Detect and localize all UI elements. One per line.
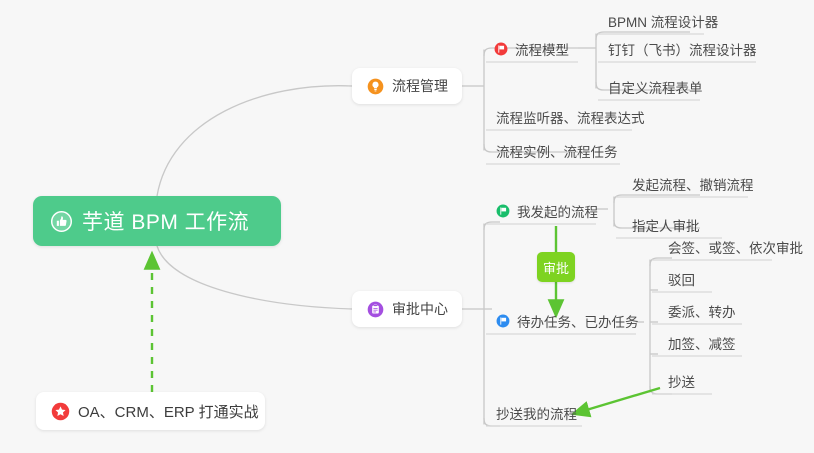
leaf-label: 抄送: [668, 371, 695, 391]
node-my-initiated[interactable]: 我发起的流程: [490, 198, 604, 224]
thumbs-up-icon: [50, 210, 73, 233]
node-label-my-initiated: 我发起的流程: [517, 201, 598, 221]
leaf-label: 指定人审批: [632, 215, 700, 235]
node-label-todo-done: 待办任务、已办任务: [517, 311, 639, 331]
leaf-bpmn-designer[interactable]: BPMN 流程设计器: [600, 8, 724, 34]
node-label-process-model: 流程模型: [515, 39, 569, 59]
star-icon: [51, 402, 70, 421]
node-label-integration: OA、CRM、ERP 打通实战: [78, 401, 259, 422]
annotation-tag-approve[interactable]: 审批: [537, 252, 575, 282]
leaf-label: 流程实例、流程任务: [496, 141, 618, 161]
leaf-process-listener[interactable]: 流程监听器、流程表达式: [488, 104, 651, 130]
leaf-start-revoke[interactable]: 发起流程、撤销流程: [624, 171, 760, 197]
node-process-model[interactable]: 流程模型: [488, 36, 575, 62]
leaf-label: 自定义流程表单: [608, 77, 703, 97]
branch-node-approval-center[interactable]: 审批中心: [352, 291, 462, 327]
leaf-label: 加签、减签: [668, 333, 736, 353]
leaf-label: 流程监听器、流程表达式: [496, 107, 645, 127]
leaf-label: BPMN 流程设计器: [608, 11, 718, 31]
lightbulb-icon: [367, 78, 384, 95]
branch-node-process-mgmt[interactable]: 流程管理: [352, 68, 462, 104]
flag-icon-red: [494, 42, 508, 56]
leaf-delegate-transfer[interactable]: 委派、转办: [660, 298, 742, 324]
root-node[interactable]: 芋道 BPM 工作流: [33, 196, 281, 246]
link-root-to-approval-center: [157, 246, 352, 309]
annotation-tag-label: 审批: [543, 258, 569, 277]
root-label: 芋道 BPM 工作流: [82, 206, 249, 236]
arrow-cc-to-cc-my-process: [573, 388, 660, 414]
leaf-cc-my-process[interactable]: 抄送我的流程: [488, 400, 583, 426]
flag-icon-green: [496, 204, 510, 218]
leaf-cc[interactable]: 抄送: [660, 368, 701, 394]
mindmap-canvas[interactable]: 芋道 BPM 工作流 流程管理 流程模型 BPMN 流程设计器 钉钉（飞书: [0, 0, 814, 453]
leaf-dingtalk-designer[interactable]: 钉钉（飞书）流程设计器: [600, 36, 763, 62]
leaf-add-remove-sign[interactable]: 加签、减签: [660, 330, 742, 356]
leaf-label: 委派、转办: [668, 301, 736, 321]
leaf-reject[interactable]: 驳回: [660, 266, 701, 292]
clipboard-icon: [367, 301, 384, 318]
branch-label-approval-center: 审批中心: [392, 299, 448, 319]
link-root-to-process-mgmt: [157, 86, 352, 196]
leaf-label: 驳回: [668, 269, 695, 289]
node-integration-practice[interactable]: OA、CRM、ERP 打通实战: [36, 392, 265, 430]
branch-label-process-mgmt: 流程管理: [392, 76, 448, 96]
leaf-label: 会签、或签、依次审批: [668, 237, 803, 257]
leaf-countersign[interactable]: 会签、或签、依次审批: [660, 234, 809, 260]
node-todo-done[interactable]: 待办任务、已办任务: [490, 308, 645, 334]
leaf-label: 发起流程、撤销流程: [632, 174, 754, 194]
leaf-label: 抄送我的流程: [496, 403, 577, 423]
flag-icon-blue: [496, 314, 510, 328]
leaf-process-instance[interactable]: 流程实例、流程任务: [488, 138, 624, 164]
leaf-label: 钉钉（飞书）流程设计器: [608, 39, 757, 59]
leaf-custom-form[interactable]: 自定义流程表单: [600, 74, 709, 100]
